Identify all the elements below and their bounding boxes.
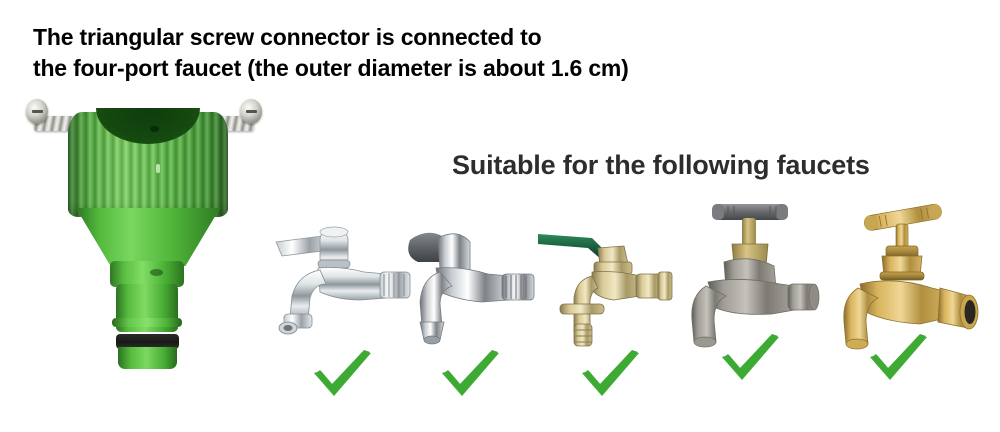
- compatible-faucets-row: [268, 212, 994, 408]
- headline-line-1: The triangular screw connector is connec…: [33, 22, 629, 53]
- page-title: The triangular screw connector is connec…: [33, 22, 629, 83]
- faucet-icon-grey-bronze-tbar-bibcock: [676, 196, 826, 336]
- check-icon: [676, 334, 826, 390]
- faucet-icon-chrome-curved-lever-bibcock: [396, 212, 546, 352]
- connector-nozzle-tip: [118, 347, 177, 369]
- check-icon: [536, 350, 686, 406]
- faucet-icon-brass-tbar-bibcock: [824, 196, 974, 336]
- connector-nozzle-rib: [112, 318, 182, 327]
- connector-ribbed-cap: [68, 112, 228, 217]
- screw-head-right-icon: [240, 99, 262, 124]
- product-infographic: The triangular screw connector is connec…: [0, 0, 1000, 432]
- connector-cap-cavity: [96, 108, 200, 144]
- faucet-icon-brass-ball-valve-green-lever: [536, 212, 686, 352]
- connector-highlight: [156, 164, 160, 173]
- faucet-item-brass-ball-valve-green-lever: [536, 212, 686, 408]
- subheading: Suitable for the following faucets: [452, 150, 870, 181]
- headline-line-2: the four-port faucet (the outer diameter…: [33, 53, 629, 84]
- faucet-item-grey-bronze-tbar-bibcock: [676, 196, 826, 392]
- check-icon: [396, 350, 546, 406]
- faucet-item-chrome-curved-lever-bibcock: [396, 212, 546, 408]
- screw-head-left-icon: [26, 99, 48, 124]
- connector-cone-body: [76, 208, 220, 266]
- check-icon: [824, 334, 974, 390]
- connector-product-image: [28, 104, 260, 376]
- faucet-item-brass-tbar-bibcock: [824, 196, 974, 392]
